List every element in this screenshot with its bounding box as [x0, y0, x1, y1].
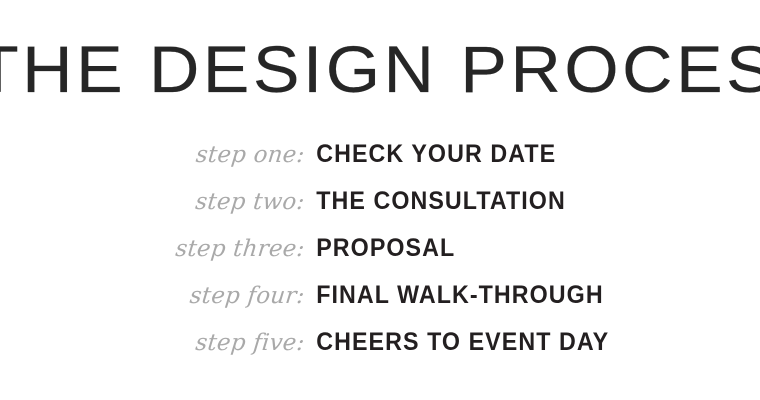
list-item: step one: CHECK YOUR DATE [0, 131, 760, 178]
step-value-four: FINAL WALK-THROUGH [306, 272, 728, 319]
design-process-poster: THE DESIGN PROCESS step one: CHECK YOUR … [0, 0, 760, 400]
list-item: step five: CHEERS TO EVENT DAY [0, 319, 760, 366]
list-item: step two: THE CONSULTATION [0, 178, 760, 225]
step-label-three: step three: [0, 226, 311, 273]
step-value-five: CHEERS TO EVENT DAY [306, 319, 728, 366]
list-item: step three: PROPOSAL [0, 225, 760, 272]
step-label-five: step five: [0, 320, 311, 367]
step-value-one: CHECK YOUR DATE [306, 131, 728, 178]
page-title-text: THE DESIGN PROCESS [0, 36, 760, 102]
step-label-four: step four: [0, 273, 311, 320]
steps-list: step one: CHECK YOUR DATE step two: THE … [0, 131, 760, 366]
list-item: step four: FINAL WALK-THROUGH [0, 272, 760, 319]
page-title: THE DESIGN PROCESS [0, 36, 760, 102]
step-value-three: PROPOSAL [306, 225, 728, 272]
step-value-two: THE CONSULTATION [306, 178, 728, 225]
step-label-two: step two: [0, 179, 311, 226]
step-label-one: step one: [0, 132, 311, 179]
